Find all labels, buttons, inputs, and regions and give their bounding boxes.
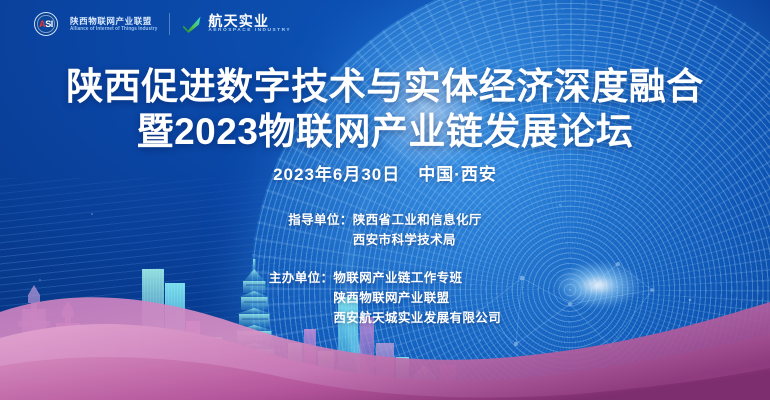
organizer-value: 物联网产业链工作专班 bbox=[333, 268, 501, 288]
aerospace-logo-text: 航天实业 AEROSPACE INDUSTRY bbox=[208, 14, 291, 34]
alliance-en-name: Alliance of Internet of Things Industry bbox=[70, 26, 157, 32]
poster-banner: ASI 陕西物联网产业联盟 Alliance of Internet of Th… bbox=[0, 0, 770, 400]
aerospace-logo: 航天实业 AEROSPACE INDUSTRY bbox=[182, 14, 291, 34]
title-line-1: 陕西促进数字技术与实体经济深度融合 bbox=[0, 66, 770, 109]
digital-globe-icon bbox=[250, 0, 770, 400]
aerospace-cn-name: 航天实业 bbox=[208, 14, 291, 28]
logo-divider bbox=[169, 13, 170, 35]
aerospace-en-name: AEROSPACE INDUSTRY bbox=[208, 29, 291, 34]
organizer-label-guidance: 指导单位： bbox=[288, 210, 353, 230]
alliance-cn-name: 陕西物联网产业联盟 bbox=[70, 17, 157, 26]
star-speckles bbox=[0, 0, 770, 400]
globe-rim-highlight bbox=[250, 0, 770, 400]
alliance-logo-letters-si: SI bbox=[45, 20, 53, 29]
organizer-group-guidance: 指导单位： 陕西省工业和信息化厅 西安市科学技术局 bbox=[288, 210, 482, 251]
alliance-logo-icon: ASI bbox=[34, 12, 58, 36]
title-line-2: 暨2023物联网产业链发展论坛 bbox=[0, 111, 770, 154]
organizer-label-host: 主办单位： bbox=[269, 268, 334, 288]
poster-title: 陕西促进数字技术与实体经济深度融合 暨2023物联网产业链发展论坛 bbox=[0, 66, 770, 154]
aerospace-swoosh-icon bbox=[182, 14, 202, 34]
organizer-block: 指导单位： 陕西省工业和信息化厅 西安市科学技术局 主办单位： 物联网产业链工作… bbox=[0, 210, 770, 328]
date-location-line: 2023年6月30日 中国·西安 bbox=[0, 160, 770, 185]
organizer-value: 西安航天城实业发展有限公司 bbox=[333, 308, 501, 328]
organizer-group-host: 主办单位： 物联网产业链工作专班 陕西物联网产业联盟 西安航天城实业发展有限公司 bbox=[269, 268, 501, 329]
logo-bar: ASI 陕西物联网产业联盟 Alliance of Internet of Th… bbox=[34, 12, 291, 36]
organizer-value: 陕西省工业和信息化厅 bbox=[353, 210, 482, 230]
background-decoration bbox=[0, 0, 770, 400]
organizer-value: 西安市科学技术局 bbox=[353, 230, 482, 250]
organizer-values-host: 物联网产业链工作专班 陕西物联网产业联盟 西安航天城实业发展有限公司 bbox=[333, 268, 501, 329]
organizer-values-guidance: 陕西省工业和信息化厅 西安市科学技术局 bbox=[353, 210, 482, 251]
organizer-value: 陕西物联网产业联盟 bbox=[333, 288, 501, 308]
alliance-logo-text: 陕西物联网产业联盟 Alliance of Internet of Things… bbox=[70, 17, 157, 32]
